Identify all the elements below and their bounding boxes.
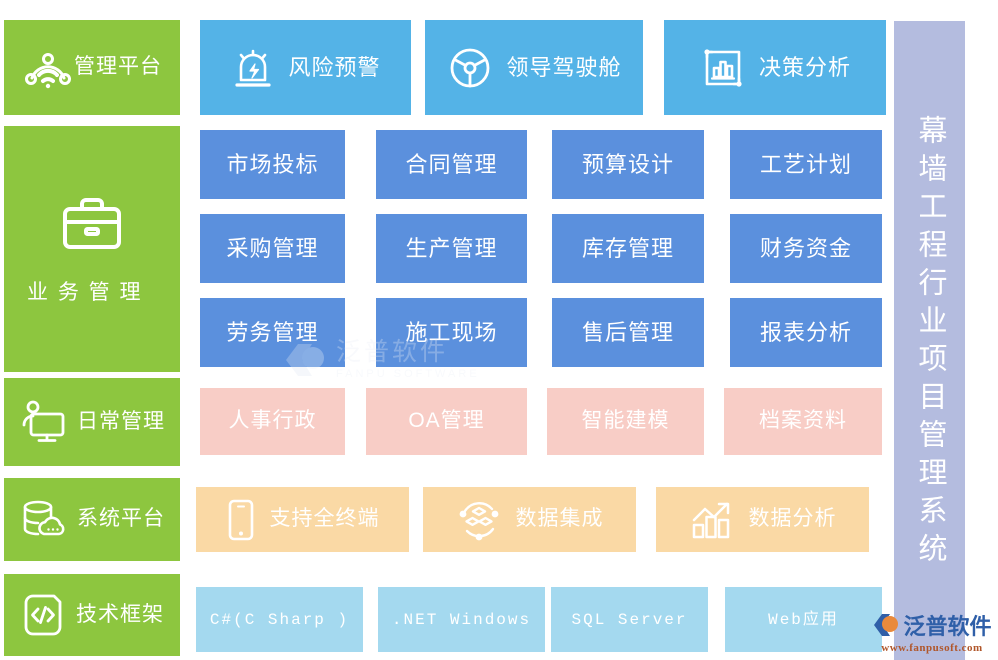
code-tag-icon bbox=[20, 590, 66, 640]
category-system-platform[interactable]: 系统平台 bbox=[4, 478, 180, 561]
category-management-platform[interactable]: 管理平台 bbox=[4, 20, 180, 115]
wifi-cloud-icon bbox=[22, 42, 74, 94]
category-label: 日常管理 bbox=[77, 409, 165, 435]
user-monitor-icon bbox=[19, 397, 69, 447]
category-label: 系统平台 bbox=[77, 506, 165, 532]
category-label: 业 务 管 理 bbox=[27, 280, 157, 306]
platform-tile-label: 数据集成 bbox=[516, 506, 604, 532]
header-tile-label: 风险预警 bbox=[288, 54, 380, 82]
daily-tile-label: 智能建模 bbox=[582, 408, 670, 434]
infographic-canvas: 管理平台 风险预警 领导驾驶舱 bbox=[0, 0, 998, 660]
tech-tile-label: C#(C Sharp ) bbox=[210, 610, 349, 630]
tech-tile-label: Web应用 bbox=[768, 610, 839, 630]
business-tile-label: 施工现场 bbox=[405, 319, 497, 347]
business-tile-label: 劳务管理 bbox=[226, 319, 318, 347]
business-tile-label: 市场投标 bbox=[226, 151, 318, 179]
platform-tile-data-analysis[interactable]: 数据分析 bbox=[656, 487, 869, 552]
business-tile[interactable]: 财务资金 bbox=[730, 214, 882, 283]
platform-tile-label: 支持全终端 bbox=[270, 506, 380, 532]
business-tile-label: 采购管理 bbox=[226, 235, 318, 263]
tech-tile-label: SQL Server bbox=[571, 610, 687, 630]
business-tile-label: 合同管理 bbox=[405, 151, 497, 179]
watermark-en: FANPU SOFTWARE bbox=[336, 368, 480, 380]
business-tile[interactable]: 合同管理 bbox=[376, 130, 527, 199]
briefcase-icon bbox=[57, 192, 127, 258]
tech-tile[interactable]: Web应用 bbox=[725, 587, 882, 652]
category-business-management[interactable]: 业 务 管 理 bbox=[4, 126, 180, 372]
tech-tile[interactable]: .NET Windows bbox=[378, 587, 545, 652]
steering-wheel-icon bbox=[446, 44, 494, 92]
platform-tile-all-terminal[interactable]: 支持全终端 bbox=[196, 487, 409, 552]
business-tile-label: 报表分析 bbox=[760, 319, 852, 347]
business-tile[interactable]: 采购管理 bbox=[200, 214, 345, 283]
business-tile[interactable]: 售后管理 bbox=[552, 298, 704, 367]
vertical-title-text: 幕墙工程行业项目管理系统 bbox=[915, 115, 944, 571]
database-cloud-icon bbox=[19, 496, 69, 544]
daily-tile[interactable]: 智能建模 bbox=[547, 388, 704, 455]
daily-tile[interactable]: OA管理 bbox=[366, 388, 527, 455]
platform-tile-label: 数据分析 bbox=[749, 506, 837, 532]
alarm-light-icon bbox=[230, 44, 276, 92]
bar-chart-frame-icon bbox=[699, 44, 747, 92]
cubes-cycle-icon bbox=[456, 497, 502, 543]
category-label: 技术框架 bbox=[76, 602, 164, 628]
header-tile-decision-analysis[interactable]: 决策分析 bbox=[664, 20, 886, 115]
header-tile-label: 领导驾驶舱 bbox=[506, 54, 621, 82]
growth-chart-icon bbox=[689, 498, 735, 542]
business-tile[interactable]: 报表分析 bbox=[730, 298, 882, 367]
business-tile[interactable]: 库存管理 bbox=[552, 214, 704, 283]
daily-tile-label: 档案资料 bbox=[759, 408, 847, 434]
platform-tile-data-integration[interactable]: 数据集成 bbox=[423, 487, 636, 552]
daily-tile-label: OA管理 bbox=[408, 408, 484, 434]
mobile-phone-icon bbox=[226, 497, 256, 543]
daily-tile[interactable]: 人事行政 bbox=[200, 388, 345, 455]
business-tile-label: 工艺计划 bbox=[760, 151, 852, 179]
daily-tile[interactable]: 档案资料 bbox=[724, 388, 882, 455]
business-tile-label: 财务资金 bbox=[760, 235, 852, 263]
category-tech-framework[interactable]: 技术框架 bbox=[4, 574, 180, 656]
header-tile-leader-cockpit[interactable]: 领导驾驶舱 bbox=[425, 20, 643, 115]
business-tile[interactable]: 施工现场 bbox=[376, 298, 527, 367]
vertical-title-banner: 幕墙工程行业项目管理系统 bbox=[894, 21, 965, 660]
business-tile-label: 售后管理 bbox=[582, 319, 674, 347]
tech-tile[interactable]: C#(C Sharp ) bbox=[196, 587, 363, 652]
business-tile-label: 生产管理 bbox=[405, 235, 497, 263]
business-tile[interactable]: 生产管理 bbox=[376, 214, 527, 283]
business-tile[interactable]: 劳务管理 bbox=[200, 298, 345, 367]
category-label: 管理平台 bbox=[74, 54, 162, 80]
tech-tile-label: .NET Windows bbox=[392, 610, 531, 630]
tech-tile[interactable]: SQL Server bbox=[551, 587, 708, 652]
category-daily-management[interactable]: 日常管理 bbox=[4, 378, 180, 466]
business-tile[interactable]: 预算设计 bbox=[552, 130, 704, 199]
header-tile-risk-alert[interactable]: 风险预警 bbox=[200, 20, 411, 115]
business-tile-label: 预算设计 bbox=[582, 151, 674, 179]
business-tile-label: 库存管理 bbox=[582, 235, 674, 263]
business-tile[interactable]: 工艺计划 bbox=[730, 130, 882, 199]
business-tile[interactable]: 市场投标 bbox=[200, 130, 345, 199]
header-tile-label: 决策分析 bbox=[759, 54, 851, 82]
daily-tile-label: 人事行政 bbox=[229, 408, 317, 434]
